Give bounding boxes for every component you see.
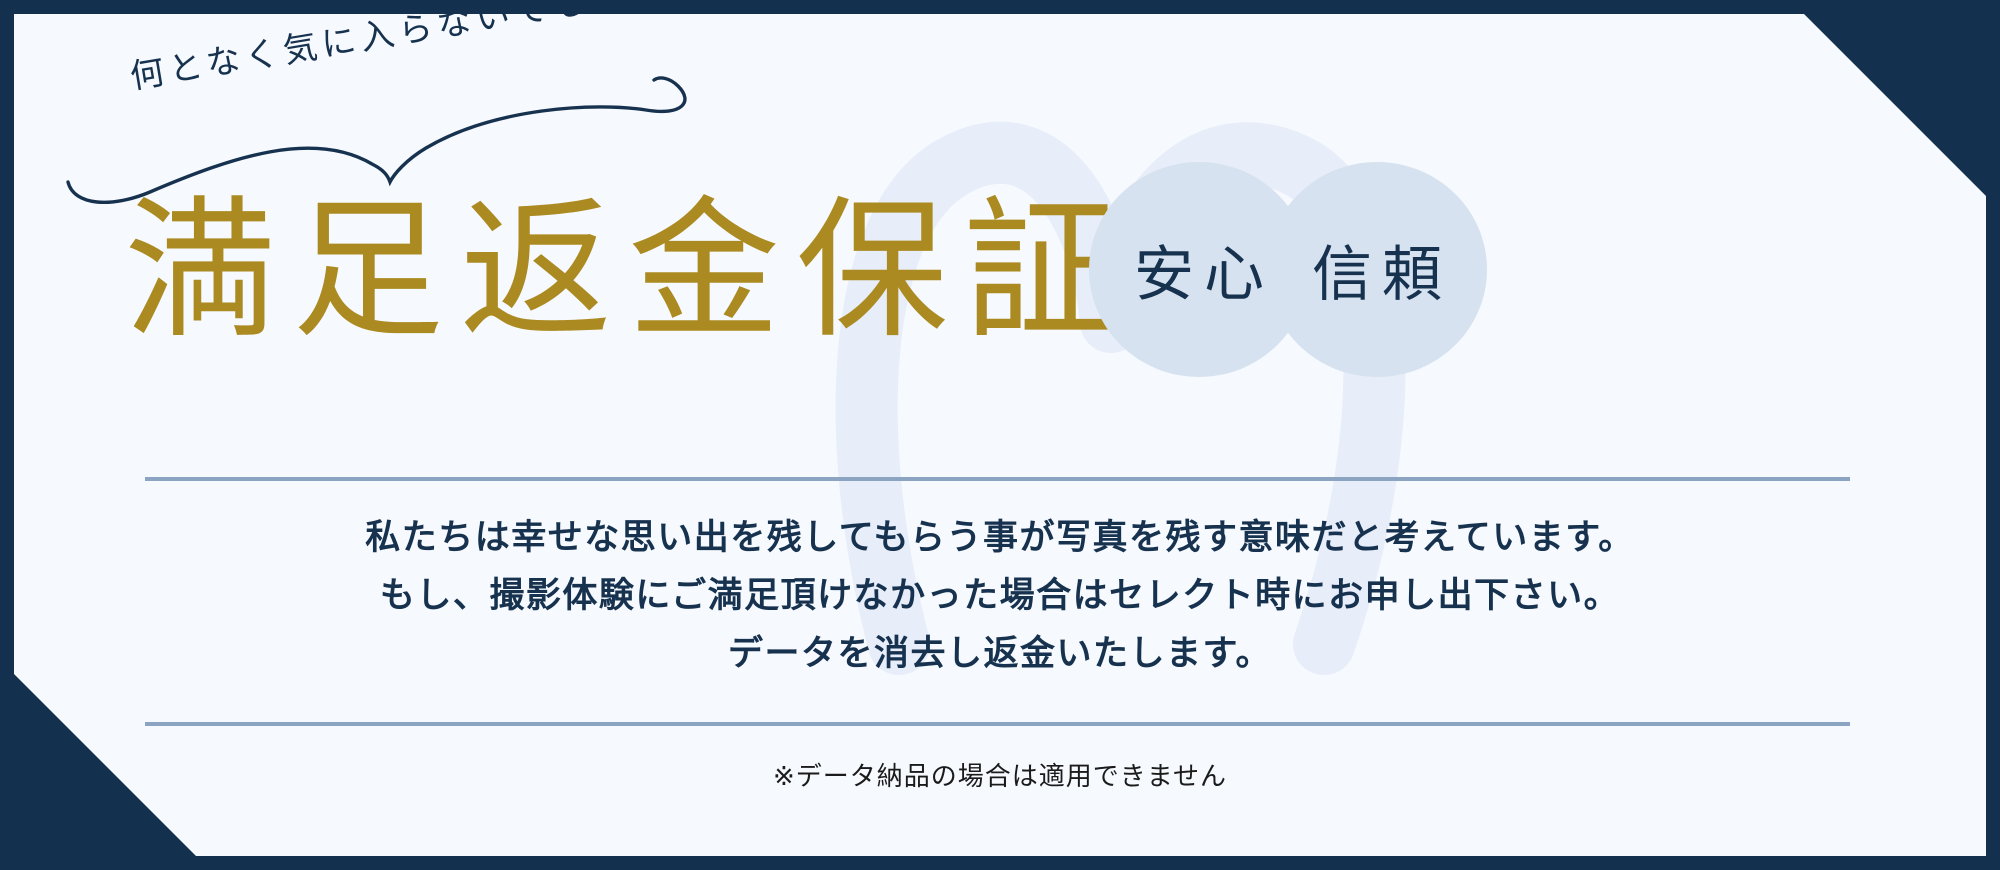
- page-title: 満足返金保証: [124, 182, 1132, 362]
- divider-bottom: [145, 722, 1850, 726]
- badge-label: 信頼: [1302, 226, 1452, 313]
- badge-group: 安心 信頼: [1089, 162, 1589, 382]
- badge-shinrai: 信頼: [1267, 162, 1487, 377]
- body-line: 私たちは幸せな思い出を残してもらう事が写真を残す意味だと考えています。: [14, 509, 1986, 567]
- body-line: データを消去し返金いたします。: [14, 625, 1986, 683]
- divider-top: [145, 477, 1850, 481]
- badge-label: 安心: [1124, 226, 1274, 313]
- body-copy: 私たちは幸せな思い出を残してもらう事が写真を残す意味だと考えています。 もし、撮…: [14, 509, 1986, 683]
- guarantee-banner: 何となく気に入らないでもOK！ 満足返金保証 安心 信頼 私たちは幸せな思い出を…: [0, 0, 2000, 870]
- body-line: もし、撮影体験にご満足頂けなかった場合はセレクト時にお申し出下さい。: [14, 567, 1986, 625]
- headline-row: 満足返金保証: [14, 182, 1986, 382]
- footnote: ※データ納品の場合は適用できません: [14, 756, 1986, 793]
- banner-panel: 何となく気に入らないでもOK！ 満足返金保証 安心 信頼 私たちは幸せな思い出を…: [14, 14, 1986, 856]
